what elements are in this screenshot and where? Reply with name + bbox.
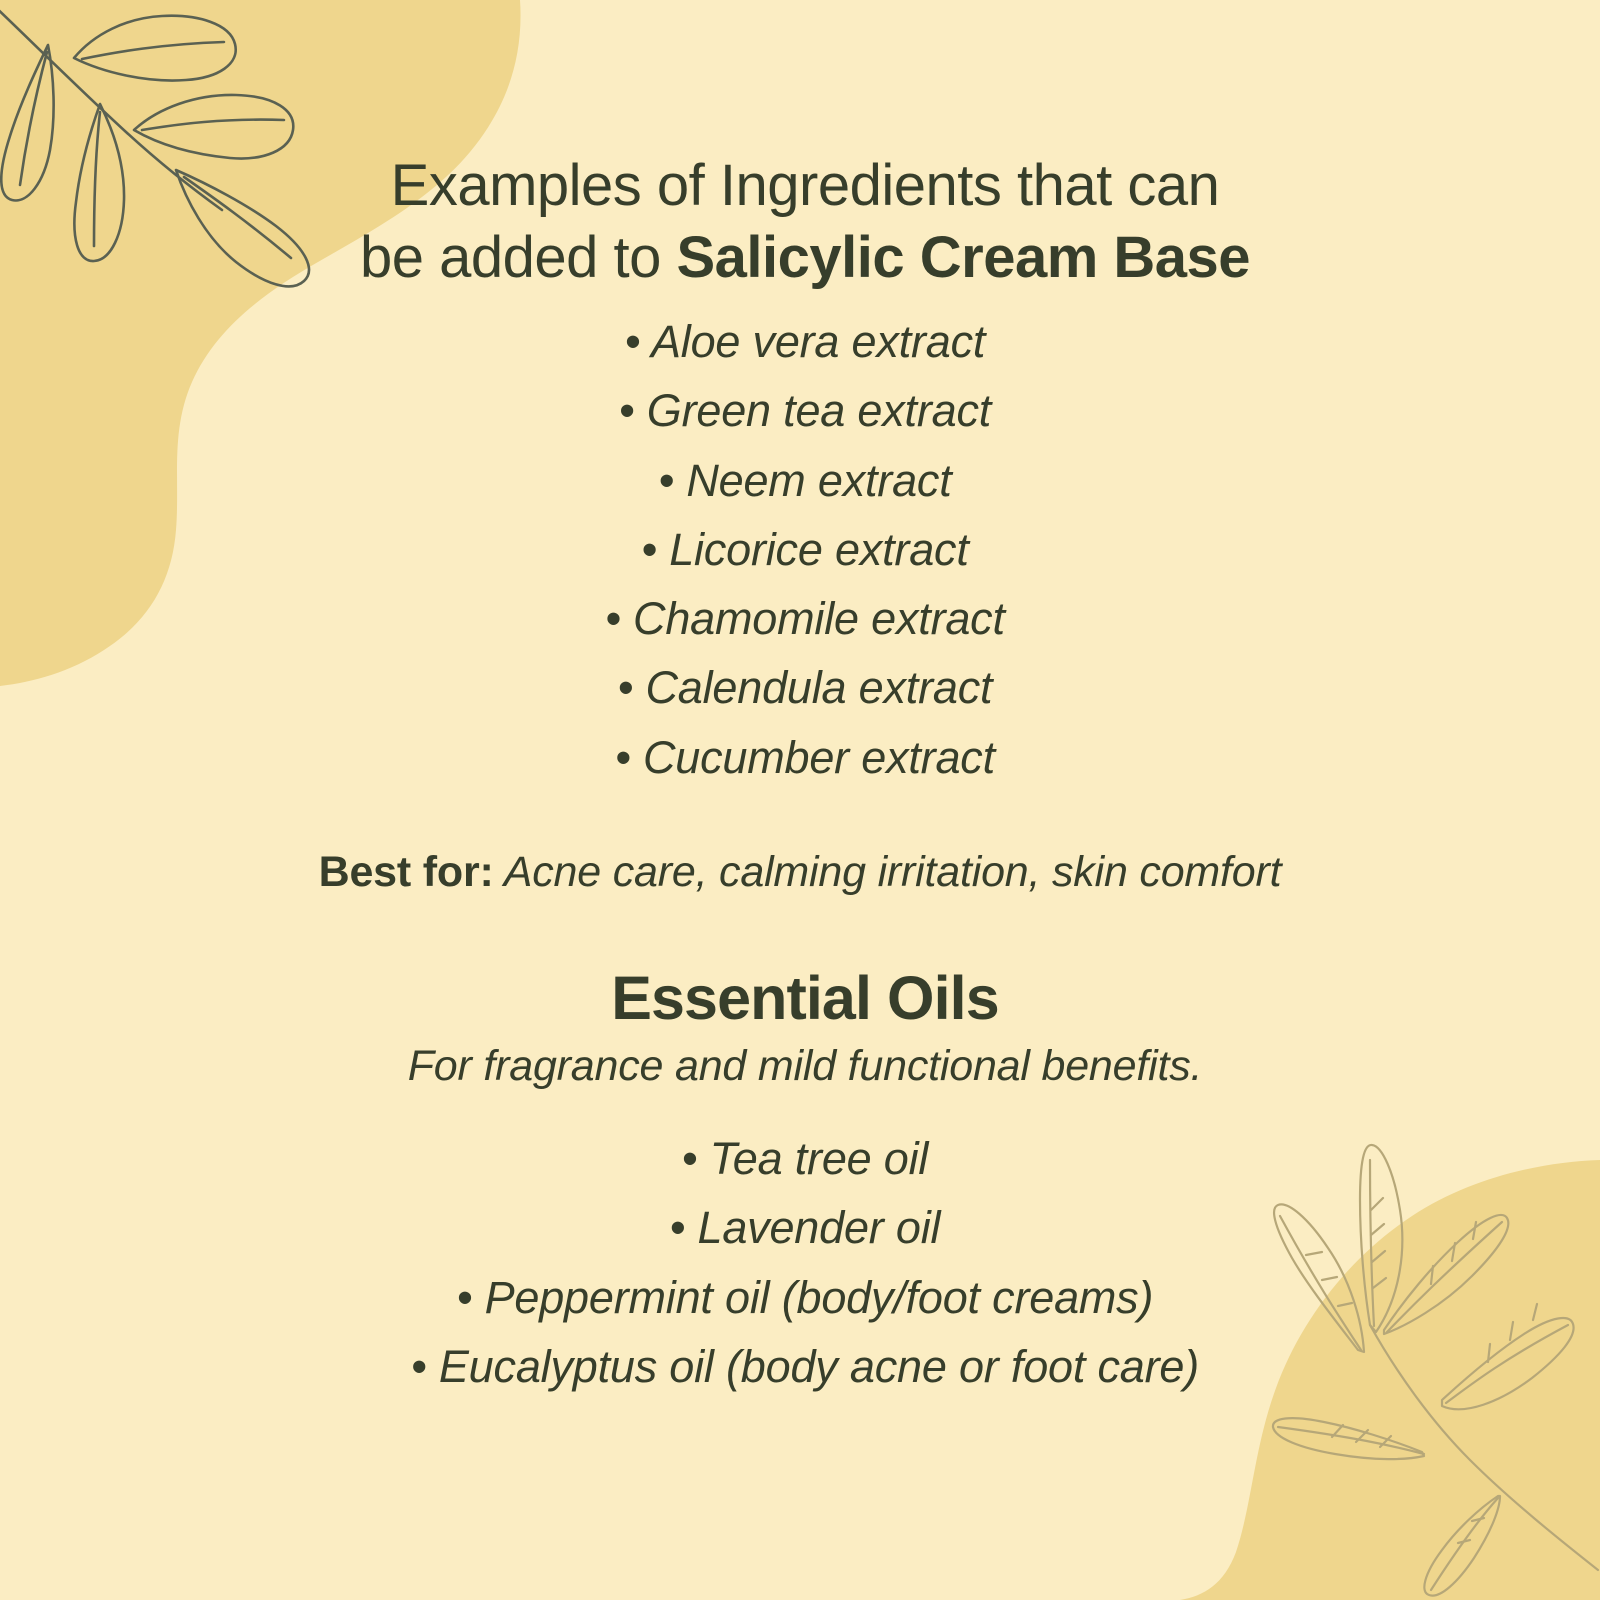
title-line-1: Examples of Ingredients that can bbox=[391, 153, 1220, 218]
poster-canvas: Examples of Ingredients that can be adde… bbox=[0, 0, 1600, 1600]
essential-oils-subtitle: For fragrance and mild functional benefi… bbox=[160, 1042, 1450, 1091]
list-item: • Calendula extract bbox=[160, 653, 1450, 722]
page-title: Examples of Ingredients that can be adde… bbox=[160, 150, 1450, 294]
title-line-2-bold: Salicylic Cream Base bbox=[676, 225, 1250, 290]
list-item: • Licorice extract bbox=[160, 515, 1450, 584]
content-layer: Examples of Ingredients that can be adde… bbox=[0, 0, 1600, 1600]
essential-oils-list: • Tea tree oil • Lavender oil • Peppermi… bbox=[130, 1124, 1480, 1401]
list-item: • Green tea extract bbox=[160, 376, 1450, 445]
list-item: • Aloe vera extract bbox=[160, 307, 1450, 376]
extracts-list: • Aloe vera extract • Green tea extract … bbox=[160, 307, 1450, 792]
list-item: • Eucalyptus oil (body acne or foot care… bbox=[130, 1332, 1480, 1401]
list-item: • Neem extract bbox=[160, 446, 1450, 515]
list-item: • Lavender oil bbox=[130, 1193, 1480, 1262]
title-line-2-prefix: be added to bbox=[360, 225, 677, 290]
best-for-value: Acne care, calming irritation, skin comf… bbox=[494, 848, 1282, 896]
best-for-line: Best for: Acne care, calming irritation,… bbox=[100, 848, 1500, 897]
list-item: • Tea tree oil bbox=[130, 1124, 1480, 1193]
list-item: • Peppermint oil (body/foot creams) bbox=[130, 1263, 1480, 1332]
list-item: • Cucumber extract bbox=[160, 723, 1450, 792]
list-item: • Chamomile extract bbox=[160, 584, 1450, 653]
essential-oils-heading: Essential Oils bbox=[160, 963, 1450, 1033]
best-for-label: Best for: bbox=[319, 848, 494, 896]
